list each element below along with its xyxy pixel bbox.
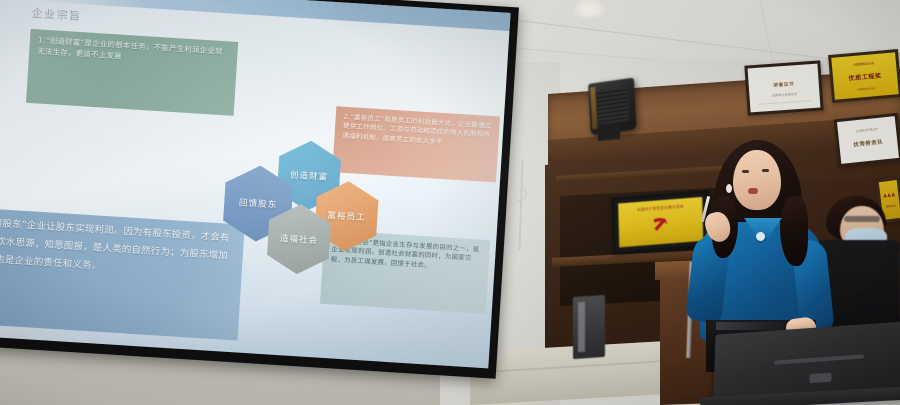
speaker-mount-bracket [598, 127, 620, 141]
slide-title-band [30, 0, 510, 31]
presenter-eye-left [742, 170, 749, 173]
speaker-grille [595, 86, 630, 124]
slide-subtitle: 企业宗旨 [31, 5, 82, 24]
plaque-title: 荣誉证书 [749, 80, 819, 91]
presenter-earring [726, 184, 732, 193]
plaque-gold: 中国建筑业协会 优质工程奖 中国建筑业协会 [828, 49, 900, 103]
plaque-subtitle: 优秀单位会员证书 [749, 90, 819, 100]
plaque-title: 优质工程奖 [833, 69, 898, 84]
presenter-eye-right [762, 169, 769, 172]
hammer-sickle-icon [651, 213, 671, 233]
belt [716, 322, 794, 330]
laptop-logo [809, 373, 831, 384]
projection-screen: 业文化——企业宗旨 企业宗旨 1.“创造财富”是企业的根本任务，不能产生利润企业… [0, 0, 519, 379]
cable-loop [513, 186, 527, 202]
presenter-face [733, 150, 781, 210]
plaque-footer: 中国建筑业协会 [834, 84, 898, 94]
laptop-vent [774, 354, 864, 364]
plaque-subtitle: 信用企业 [882, 203, 900, 209]
plaque-face: 先进集体荣誉证书 优秀劳务队 [837, 116, 899, 164]
photo-scene: 中国共产党党员先锋示范岗 荣誉证书 优秀单位会员证书 中国建筑业协会 优质工程奖… [0, 0, 900, 405]
hex-glow [214, 125, 422, 277]
plaque-subtitle: 先进集体荣誉证书 [838, 125, 896, 135]
plaque-white-upper: 荣誉证书 优秀单位会员证书 [744, 60, 823, 115]
party-emblem-caption: 中国共产党党员先锋示范岗 [618, 203, 702, 215]
plaque-white-lower: 先进集体荣誉证书 优秀劳务队 [834, 113, 900, 167]
plaque-rule [759, 100, 811, 105]
plaque-face: 中国建筑业协会 优质工程奖 中国建筑业协会 [831, 52, 898, 99]
presenter-hair-strand [780, 196, 808, 266]
presenter-mouth [748, 188, 758, 194]
brooch [756, 232, 765, 241]
plaque-title: AAA [880, 193, 898, 200]
plaque-subtitle: 中国建筑业协会 [832, 59, 896, 69]
plaque-title: 优秀劳务队 [839, 136, 898, 150]
slide-box-reward-shareholders: 4.“回馈股东”企业让股东实现利润。因为有股东投资，才会有企业。饮水思源，知恩图… [0, 207, 245, 341]
slide-box-create-wealth: 1.“创造财富”是企业的根本任务，不能产生利润企业就无法生存，更谈不上发展 [26, 29, 238, 116]
projection-screen-surface: 业文化——企业宗旨 企业宗旨 1.“创造财富”是企业的根本任务，不能产生利润企业… [0, 0, 511, 368]
equipment-handle [578, 302, 585, 352]
plaque-face: 荣誉证书 优秀单位会员证书 [748, 64, 821, 113]
slide: 业文化——企业宗旨 企业宗旨 1.“创造财富”是企业的根本任务，不能产生利润企业… [0, 0, 511, 368]
party-emblem-face: 中国共产党党员先锋示范岗 [618, 197, 703, 248]
eyeglasses [844, 216, 880, 222]
